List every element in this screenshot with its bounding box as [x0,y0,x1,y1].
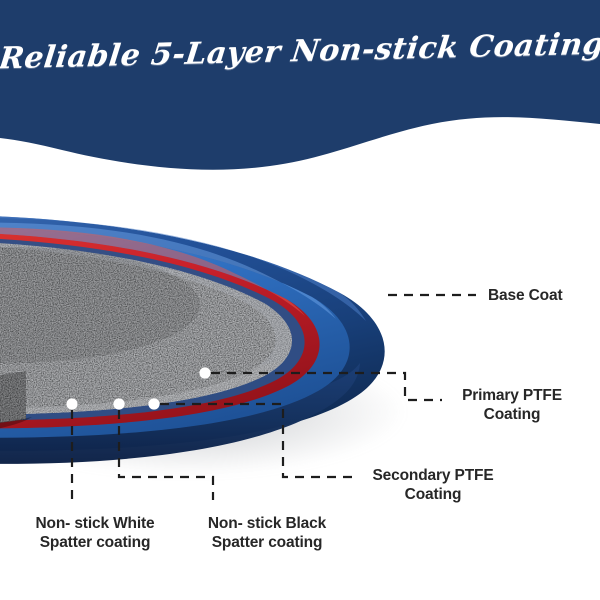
infographic-canvas: Reliable 5-Layer Non-stick Coating [0,0,600,600]
dot-secondary-ptfe [148,398,159,409]
callout-label-secondary-ptfe: Secondary PTFE Coating [368,466,498,504]
callout-label-primary-ptfe: Primary PTFE Coating [452,386,572,424]
dot-white-spatter [113,398,124,409]
dot-base-coat [376,289,387,300]
dot-black-spatter [66,398,77,409]
callout-label-base-coat: Base Coat [488,286,562,305]
callout-label-non-stick-black-spatter: Non- stick Black Spatter coating [202,514,332,552]
callout-label-non-stick-white-spatter: Non- stick White Spatter coating [28,514,162,552]
callout-dots [66,289,387,409]
leader-secondary-ptfe [160,404,358,477]
dot-primary-ptfe [199,367,210,378]
leader-primary-ptfe [211,373,442,400]
leader-white-spatter [119,410,213,500]
